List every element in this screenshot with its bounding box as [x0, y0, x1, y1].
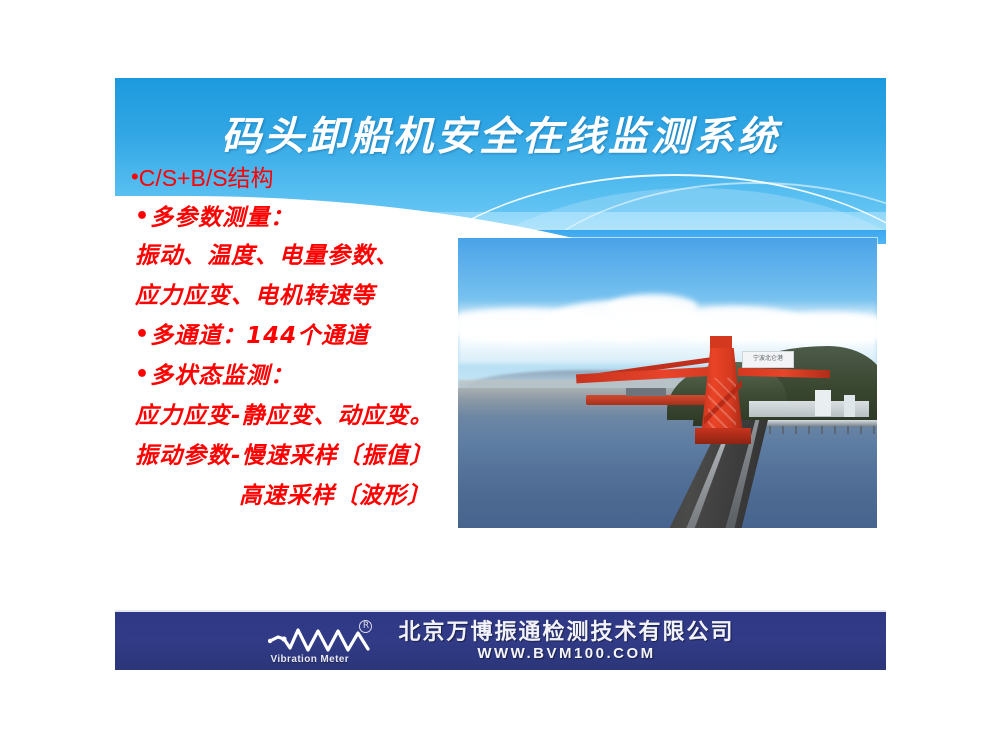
list-item: 高速采样〔波形〕 [239, 484, 431, 508]
list-item-label: 振动参数-慢速采样〔振值〕 [135, 443, 434, 469]
bullet-marker: • [135, 204, 150, 229]
list-item: •多状态监测： [135, 364, 294, 388]
crane-base [695, 428, 751, 444]
page-title: 码头卸船机安全在线监测系统 [115, 104, 886, 162]
list-item-label: C/S+B/S结构 [139, 165, 274, 191]
list-item-label: 应力应变、电机转速等 [135, 283, 375, 309]
slide-page: 码头卸船机安全在线监测系统 •C/S+B/S结构 •多参数测量： 振动、温度、电… [0, 0, 1000, 750]
bullet-marker: • [135, 362, 150, 387]
list-item-label: 多参数测量： [150, 205, 294, 231]
list-item-label: 多状态监测： [150, 363, 294, 389]
list-item: •C/S+B/S结构 [131, 166, 274, 190]
bullet-marker: • [135, 322, 150, 347]
list-item: 振动参数-慢速采样〔振值〕 [135, 444, 434, 468]
list-item: 应力应变、电机转速等 [135, 284, 375, 308]
bullet-marker: • [131, 164, 139, 189]
crane-apex [710, 336, 732, 350]
port-silo [815, 390, 831, 416]
crane-sign: 宁波北仑港 [742, 351, 794, 368]
harbor-crane-photo: 宁波北仑港 [458, 238, 877, 528]
list-item-label: 振动、温度、电量参数、 [135, 243, 399, 269]
company-name-cn: 北京万博振通检测技术有限公司 [398, 621, 734, 644]
list-item-label: 应力应变-静应变、动应变。 [135, 403, 434, 429]
presentation-slide: 码头卸船机安全在线监测系统 •C/S+B/S结构 •多参数测量： 振动、温度、电… [115, 78, 886, 670]
list-item-label: 多通道：144个通道 [150, 323, 369, 349]
moored-barge [586, 395, 706, 405]
barge-superstructure [626, 388, 666, 396]
company-website: WWW.BVM100.COM [477, 645, 655, 663]
company-logo: R Vibration Meter [266, 619, 384, 665]
list-item: •多参数测量： [135, 206, 294, 230]
crane-sign-label: 宁波北仑港 [743, 352, 793, 365]
list-item: 应力应变-静应变、动应变。 [135, 404, 434, 428]
list-item: •多通道：144个通道 [135, 324, 369, 348]
port-silo-secondary [844, 395, 855, 417]
company-info: 北京万博振通检测技术有限公司 WWW.BVM100.COM [398, 621, 734, 662]
footer-bar: R Vibration Meter 北京万博振通检测技术有限公司 WWW.BVM… [115, 610, 886, 670]
list-item: 振动、温度、电量参数、 [135, 244, 399, 268]
logo-wordmark: Vibration Meter [270, 654, 349, 665]
list-item-label: 高速采样〔波形〕 [239, 483, 431, 509]
